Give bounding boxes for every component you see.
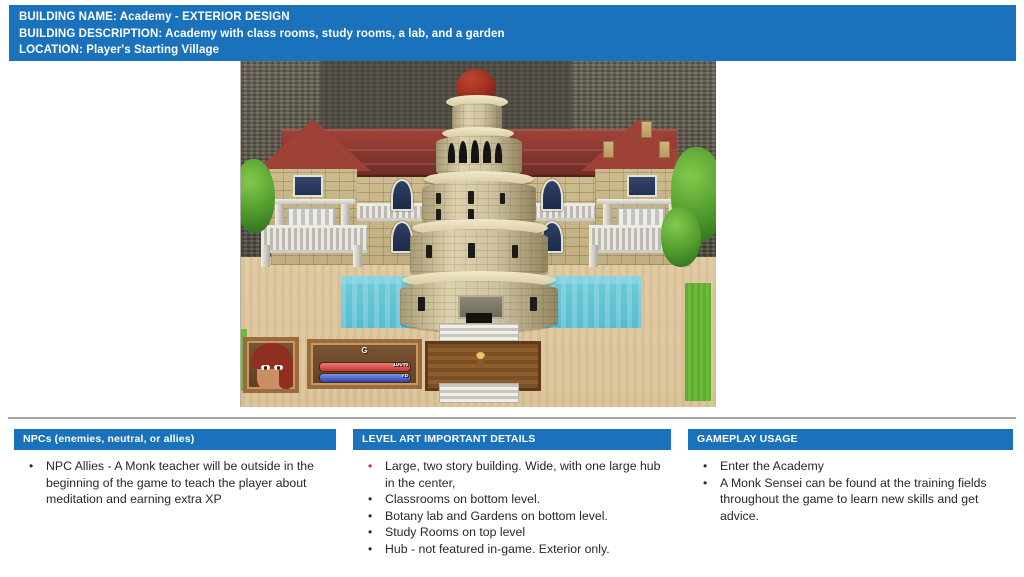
bullet-glyph: •	[703, 458, 707, 475]
tower-window-slot	[500, 193, 505, 204]
building-description-value: Academy with class rooms, study rooms, a…	[165, 28, 504, 40]
list-item: • Botany lab and Gardens on bottom level…	[359, 508, 667, 525]
tower-window-slot	[418, 297, 425, 311]
list-item: • Study Rooms on top level	[359, 524, 667, 541]
list-item: • Enter the Academy	[694, 458, 1009, 475]
portrait-pupil-left	[264, 366, 267, 370]
list-item: • Hub - not featured in-game. Exterior o…	[359, 541, 667, 558]
list-item-text: Enter the Academy	[720, 459, 824, 473]
tower-arch-opening	[448, 143, 455, 163]
hero-body	[477, 359, 484, 368]
left-wing-gable-roof	[255, 119, 371, 171]
mp-bar: 76	[319, 373, 411, 383]
column-npcs-title: NPCs (enemies, neutral, or allies)	[14, 429, 336, 450]
bullet-glyph: •	[368, 524, 372, 541]
column-npcs: NPCs (enemies, neutral, or allies) • NPC…	[14, 429, 336, 508]
building-name-value: Academy - EXTERIOR DESIGN	[120, 11, 290, 23]
column-level-art-body: • Large, two story building. Wide, with …	[353, 450, 671, 557]
section-divider	[8, 417, 1016, 419]
bullet-glyph: •	[368, 458, 372, 475]
list-item-text: Botany lab and Gardens on bottom level.	[385, 509, 608, 523]
column-gameplay-usage-body: • Enter the Academy • A Monk Sensei can …	[688, 450, 1013, 524]
npcs-bullet-list: • NPC Allies - A Monk teacher will be ou…	[20, 458, 332, 508]
grass-patch-right	[685, 283, 711, 401]
chimney-icon	[603, 141, 614, 158]
tower-window-slot	[530, 297, 537, 311]
right-wing-porch-column	[589, 245, 598, 267]
list-item: • Classrooms on bottom level.	[359, 491, 667, 508]
right-wing-upper-window	[627, 175, 657, 197]
list-item-text: A Monk Sensei can be found at the traini…	[720, 476, 987, 523]
list-item-text: Classrooms on bottom level.	[385, 492, 540, 506]
tower-arch-opening	[495, 143, 502, 163]
tower-window-slot	[436, 193, 441, 204]
bullet-glyph: •	[368, 491, 372, 508]
banner-line-building-description: BUILDING DESCRIPTION: Academy with class…	[9, 26, 1016, 43]
location-value: Player's Starting Village	[86, 44, 219, 56]
list-item-text: Large, two story building. Wide, with on…	[385, 459, 660, 490]
tree-right-lower	[661, 207, 701, 267]
gold-label: G	[311, 346, 418, 355]
portrait-ponytail	[279, 359, 293, 389]
bullet-glyph: •	[29, 458, 33, 475]
mp-value: 76	[401, 373, 408, 379]
column-npcs-body: • NPC Allies - A Monk teacher will be ou…	[14, 450, 336, 508]
tower-window-slot	[468, 191, 474, 204]
list-item-text: Hub - not featured in-game. Exterior onl…	[385, 542, 610, 556]
column-level-art: LEVEL ART IMPORTANT DETAILS • Large, two…	[353, 429, 671, 557]
lower-stairs	[439, 383, 519, 403]
list-item: • A Monk Sensei can be found at the trai…	[694, 475, 1009, 525]
hp-value: 100%	[393, 362, 408, 368]
header-banner: BUILDING NAME: Academy - EXTERIOR DESIGN…	[9, 5, 1016, 61]
portrait-pupil-right	[277, 366, 280, 370]
player-character-sprite	[475, 353, 486, 369]
bullet-glyph: •	[703, 475, 707, 492]
hp-bar: 100%	[319, 362, 411, 372]
chimney-icon	[659, 141, 670, 158]
hud-status-panel: G 100% 76	[307, 339, 422, 389]
tower-window-slot	[426, 245, 432, 258]
list-item: • NPC Allies - A Monk teacher will be ou…	[20, 458, 332, 508]
tower-window-slot	[468, 243, 475, 258]
bullet-glyph: •	[368, 508, 372, 525]
banner-line-building-name: BUILDING NAME: Academy - EXTERIOR DESIGN	[9, 9, 1016, 26]
hud-character-portrait	[243, 337, 299, 393]
column-level-art-title: LEVEL ART IMPORTANT DETAILS	[353, 429, 671, 450]
chimney-icon	[641, 121, 652, 138]
list-item-text: Study Rooms on top level	[385, 525, 525, 539]
banner-line-location: LOCATION: Player's Starting Village	[9, 42, 1016, 59]
tower-window-slot	[436, 209, 441, 220]
gameplay-bullet-list: • Enter the Academy • A Monk Sensei can …	[694, 458, 1009, 524]
central-tower	[396, 69, 562, 331]
building-description-label: BUILDING DESCRIPTION:	[19, 28, 162, 40]
level-art-bullet-list: • Large, two story building. Wide, with …	[359, 458, 667, 557]
left-wing-porch-column	[353, 245, 362, 267]
bullet-glyph: •	[368, 541, 372, 558]
left-wing-porch-column	[261, 245, 270, 267]
location-label: LOCATION:	[19, 44, 83, 56]
tower-window-slot	[512, 245, 518, 258]
left-wing-upper-window	[293, 175, 323, 197]
list-item-text: NPC Allies - A Monk teacher will be outs…	[46, 459, 314, 506]
list-item: • Large, two story building. Wide, with …	[359, 458, 667, 491]
game-screenshot-image: G 100% 76	[240, 61, 716, 407]
building-name-label: BUILDING NAME:	[19, 11, 117, 23]
left-wing-porch-rail	[261, 225, 367, 253]
column-gameplay-usage: GAMEPLAY USAGE • Enter the Academy • A M…	[688, 429, 1013, 524]
column-gameplay-usage-title: GAMEPLAY USAGE	[688, 429, 1013, 450]
